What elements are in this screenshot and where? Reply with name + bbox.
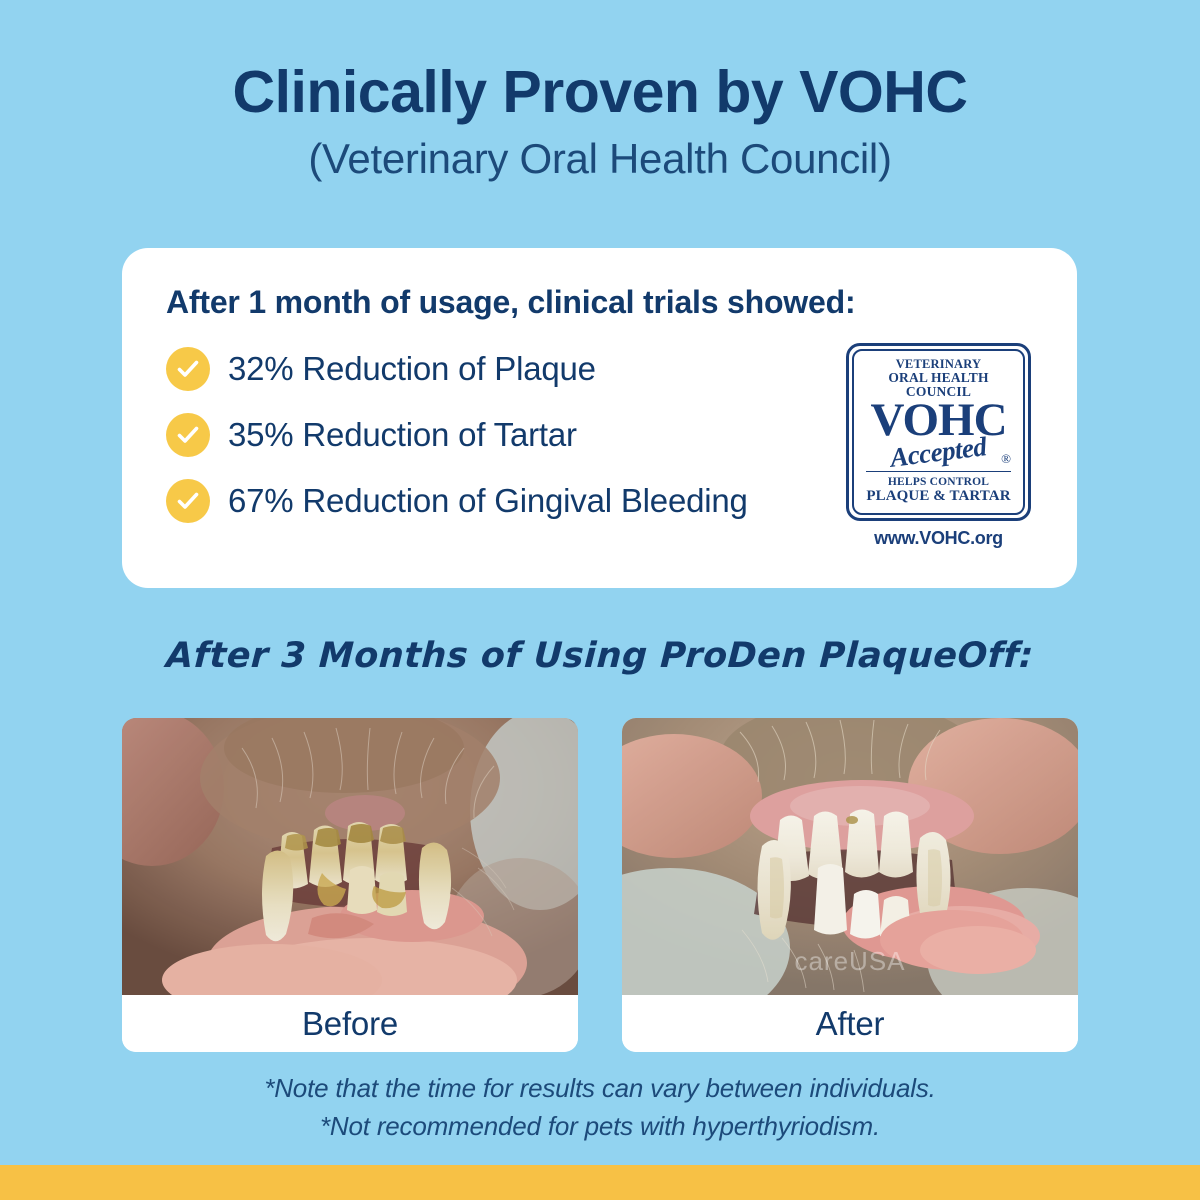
clinical-results-card: After 1 month of usage, clinical trials … xyxy=(122,248,1077,588)
check-circle-icon xyxy=(166,347,210,391)
vohc-accepted-row: Accepted ® xyxy=(860,437,1017,467)
after-label: After xyxy=(622,995,1078,1052)
list-item: 35% Reduction of Tartar xyxy=(166,413,748,457)
after-photo: careUSA xyxy=(622,718,1078,995)
list-item: 67% Reduction of Gingival Bleeding xyxy=(166,479,748,523)
footnote-1: *Note that the time for results can vary… xyxy=(0,1070,1200,1108)
stat-label: 35% Reduction of Tartar xyxy=(228,416,577,454)
vohc-divider xyxy=(866,471,1011,472)
page-title: Clinically Proven by VOHC xyxy=(0,62,1200,124)
vohc-plaque-tartar: PLAQUE & TARTAR xyxy=(860,488,1017,505)
infographic-page: Clinically Proven by VOHC (Veterinary Or… xyxy=(0,0,1200,1200)
before-label: Before xyxy=(122,995,578,1052)
before-after-comparison: Before xyxy=(122,718,1078,1052)
vohc-seal-outer-border: VETERINARY ORAL HEALTH COUNCIL VOHC Acce… xyxy=(846,343,1031,521)
vohc-helps-control: HELPS CONTROL xyxy=(860,476,1017,488)
check-circle-icon xyxy=(166,413,210,457)
header: Clinically Proven by VOHC (Veterinary Or… xyxy=(0,62,1200,182)
vohc-accepted-script: Accepted xyxy=(889,431,989,474)
bottom-accent-bar xyxy=(0,1165,1200,1200)
clinical-results-body: 32% Reduction of Plaque 35% Reduction of… xyxy=(166,335,1037,549)
vohc-seal-inner-border: VETERINARY ORAL HEALTH COUNCIL VOHC Acce… xyxy=(852,349,1025,515)
stat-label: 32% Reduction of Plaque xyxy=(228,350,596,388)
registered-mark-icon: ® xyxy=(1001,451,1011,467)
footnotes: *Note that the time for results can vary… xyxy=(0,1070,1200,1145)
list-item: 32% Reduction of Plaque xyxy=(166,347,748,391)
before-photo xyxy=(122,718,578,995)
check-circle-icon xyxy=(166,479,210,523)
vohc-accepted-seal: VETERINARY ORAL HEALTH COUNCIL VOHC Acce… xyxy=(846,343,1031,549)
after-card: careUSA After xyxy=(622,718,1078,1052)
section-caption: After 3 Months of Using ProDen PlaqueOff… xyxy=(0,636,1200,676)
before-card: Before xyxy=(122,718,578,1052)
clinical-results-heading: After 1 month of usage, clinical trials … xyxy=(166,284,1037,321)
footnote-2: *Not recommended for pets with hyperthyr… xyxy=(0,1108,1200,1146)
stat-label: 67% Reduction of Gingival Bleeding xyxy=(228,482,748,520)
vohc-website-url: www.VOHC.org xyxy=(846,528,1031,549)
page-subtitle: (Veterinary Oral Health Council) xyxy=(0,136,1200,182)
clinical-results-list: 32% Reduction of Plaque 35% Reduction of… xyxy=(166,347,748,545)
